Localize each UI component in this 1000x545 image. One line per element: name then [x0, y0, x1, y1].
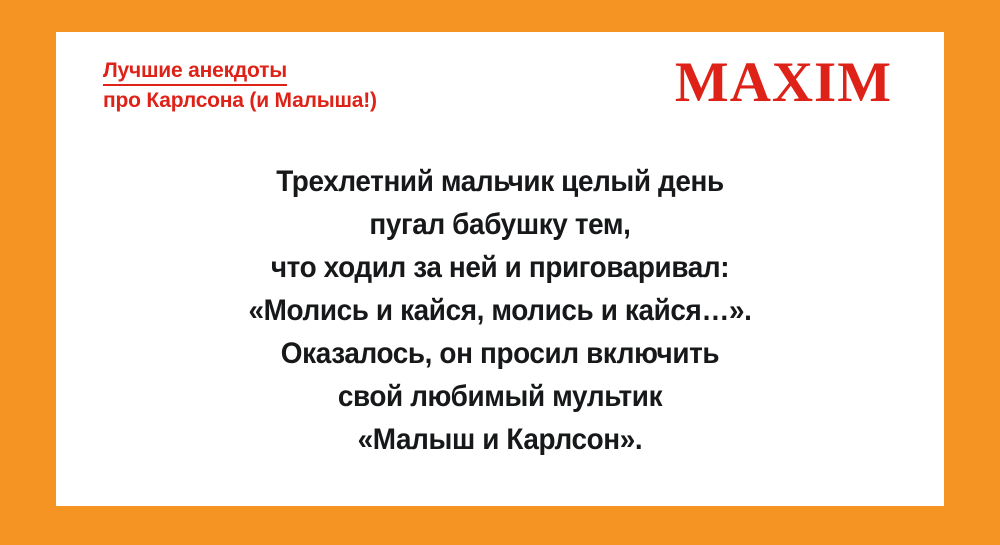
kicker-line-2: про Карлсона (и Малыша!) [103, 88, 573, 113]
kicker-block: Лучшие анекдоты про Карлсона (и Малыша!) [103, 58, 573, 113]
joke-line: Оказалось, он просил включить [87, 332, 913, 375]
joke-text-block: Трехлетний мальчик целый день пугал бабу… [56, 160, 944, 461]
joke-line: что ходил за ней и приговаривал: [87, 246, 913, 289]
joke-line: Трехлетний мальчик целый день [87, 160, 913, 203]
kicker-line-1: Лучшие анекдоты [103, 58, 287, 86]
joke-card: Лучшие анекдоты про Карлсона (и Малыша!)… [56, 32, 944, 506]
joke-line: свой любимый мультик [87, 375, 913, 418]
joke-line: «Малыш и Карлсон». [87, 418, 913, 461]
joke-line: пугал бабушку тем, [87, 203, 913, 246]
poster-canvas: Лучшие анекдоты про Карлсона (и Малыша!)… [0, 0, 1000, 545]
maxim-logo: MAXIM [675, 54, 892, 111]
card-header: Лучшие анекдоты про Карлсона (и Малыша!)… [56, 32, 944, 132]
joke-line: «Молись и кайся, молись и кайся…». [87, 289, 913, 332]
